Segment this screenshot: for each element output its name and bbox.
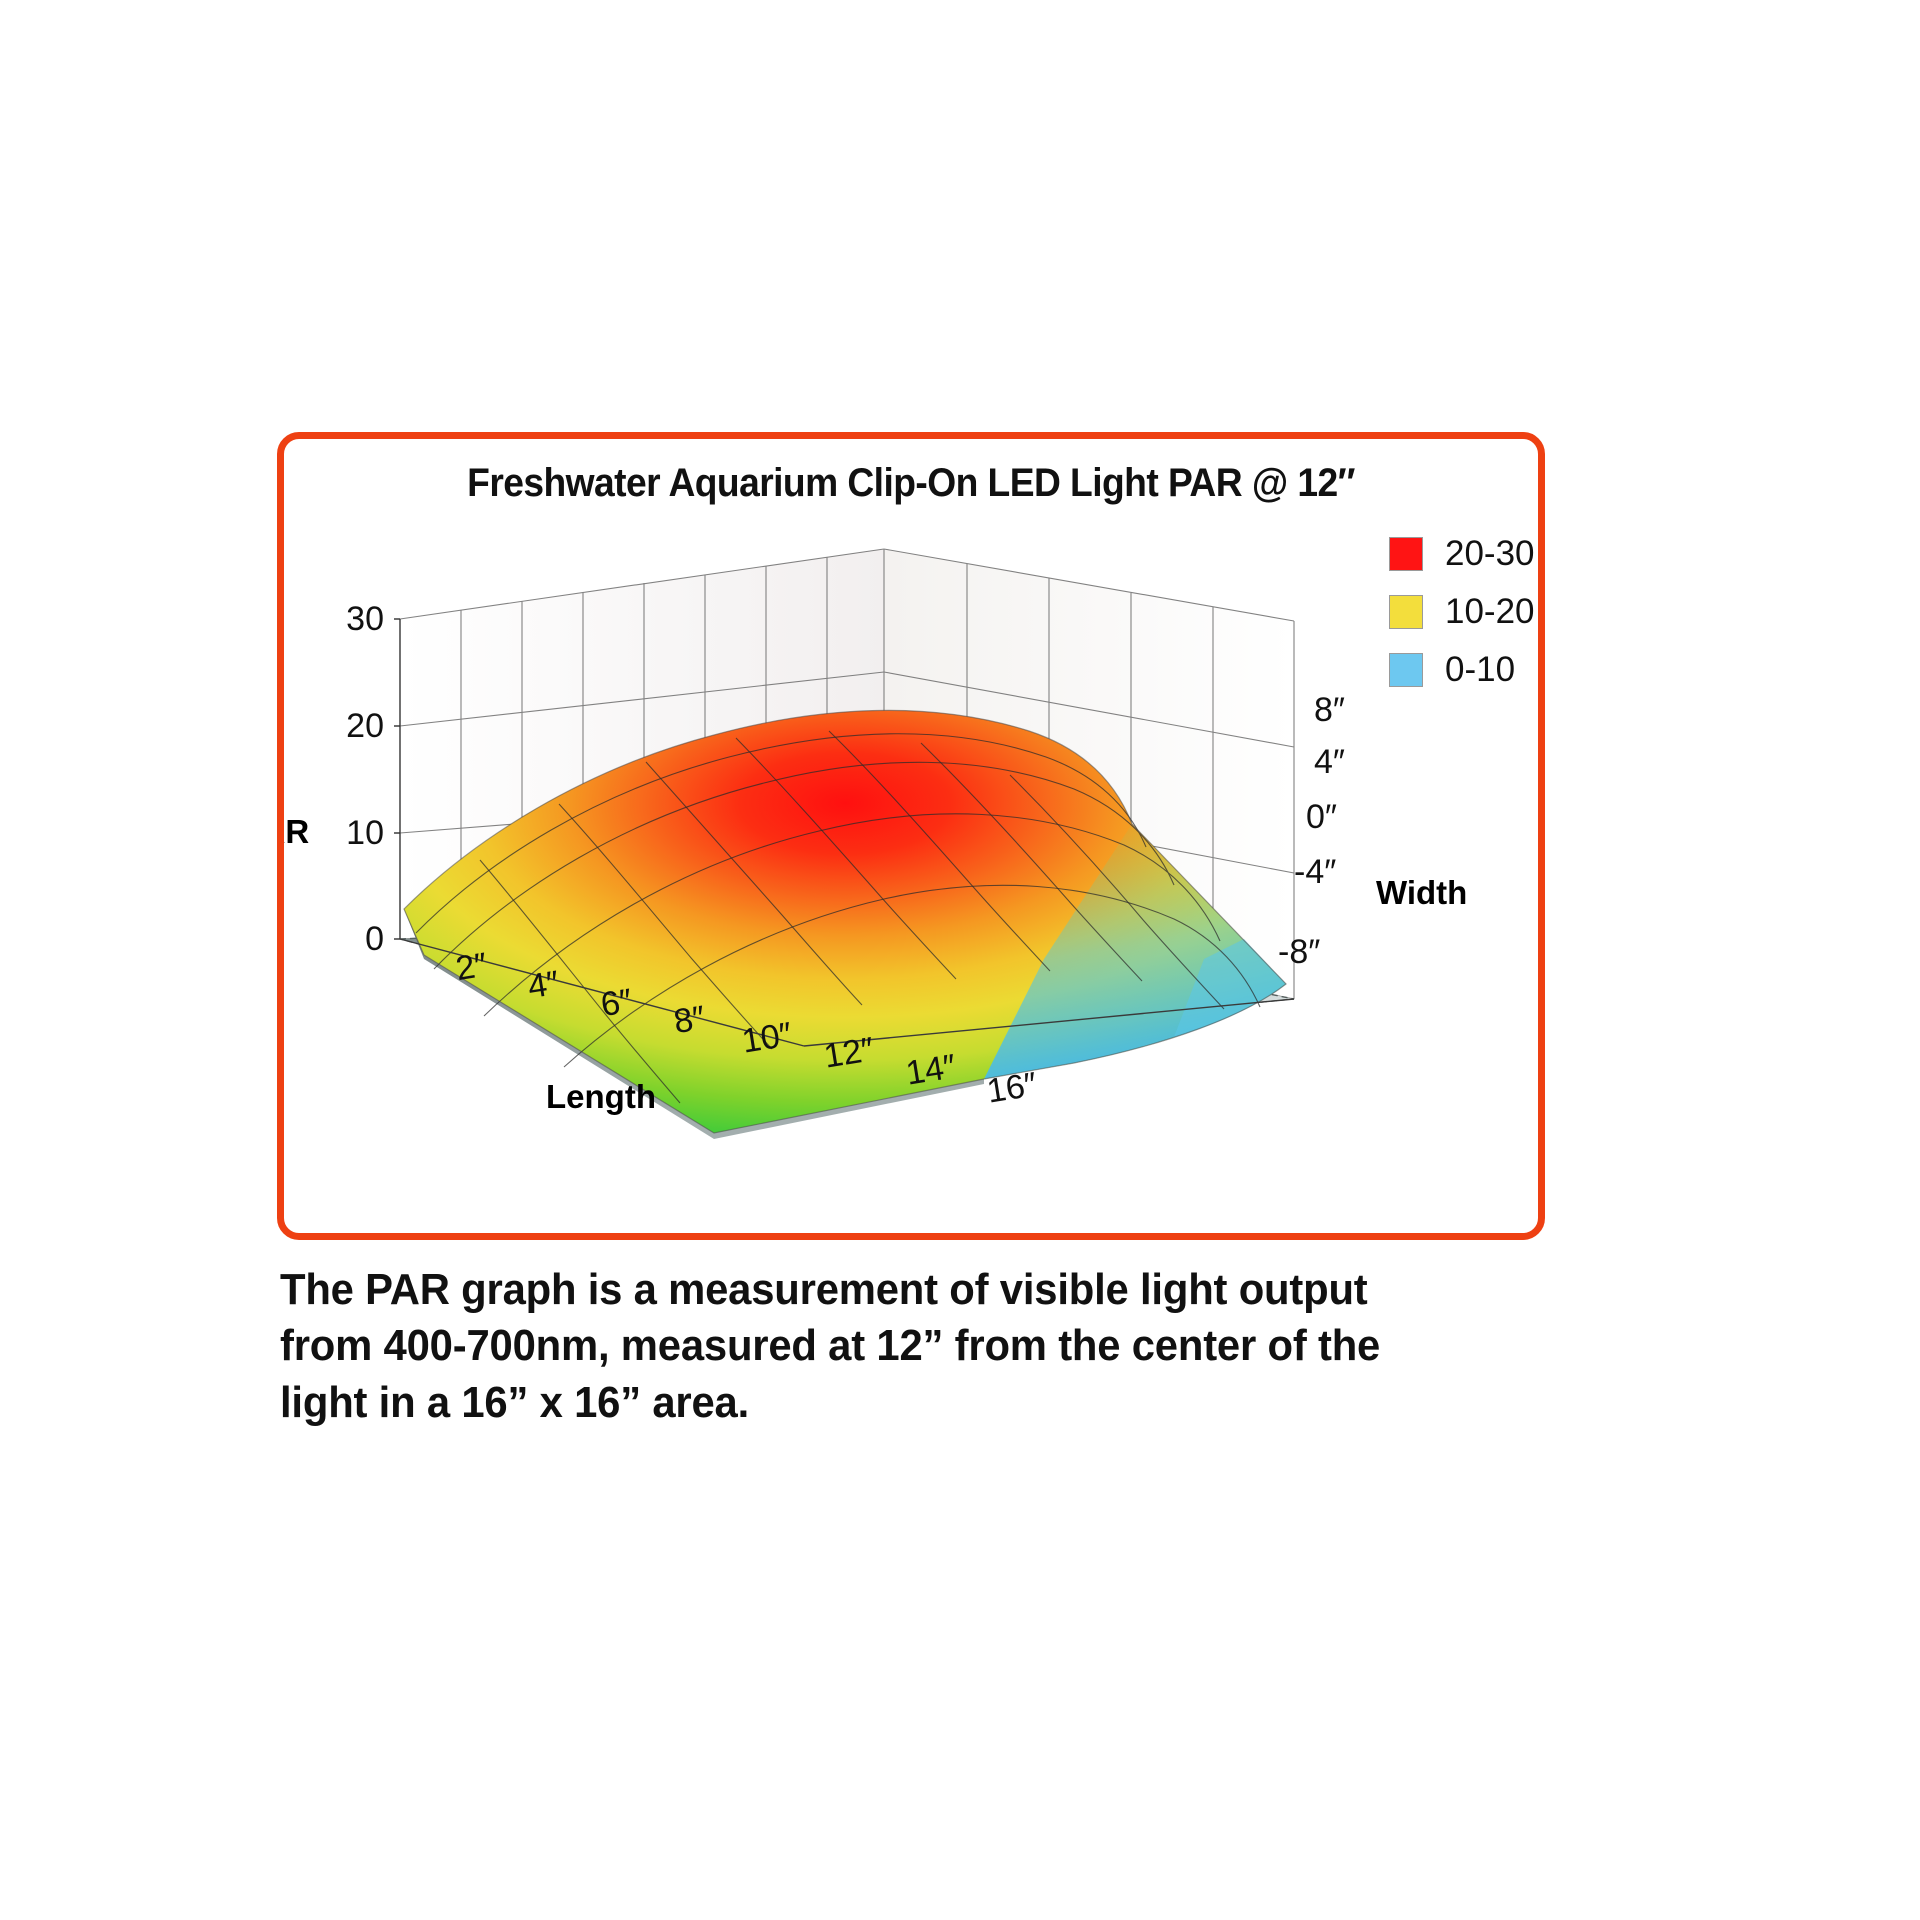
surface-plot-svg bbox=[284, 439, 1552, 1247]
chart-caption: The PAR graph is a measurement of visibl… bbox=[280, 1262, 1487, 1431]
legend-label-10-20: 10-20 bbox=[1445, 592, 1535, 632]
x-tick-2: 2″ bbox=[453, 946, 490, 989]
legend-swatch-red bbox=[1389, 537, 1423, 571]
surface-plot-area: 30 20 10 0 PAR 2″ 4″ 6″ 8″ 10″ 12″ 14″ 1… bbox=[284, 439, 1552, 1247]
y-tick-0: 0″ bbox=[1306, 798, 1337, 837]
legend-swatch-blue bbox=[1389, 653, 1423, 687]
x-tick-10: 10″ bbox=[739, 1015, 794, 1061]
y-tick--8: -8″ bbox=[1278, 933, 1320, 972]
legend-item-10-20: 10-20 bbox=[1389, 583, 1535, 641]
legend-label-20-30: 20-30 bbox=[1445, 534, 1535, 574]
chart-legend: 20-30 10-20 0-10 bbox=[1389, 525, 1535, 699]
x-tick-6: 6″ bbox=[598, 982, 635, 1025]
y-tick-8: 8″ bbox=[1314, 691, 1345, 730]
y-tick-4: 4″ bbox=[1314, 743, 1345, 782]
x-tick-4: 4″ bbox=[525, 964, 562, 1007]
par-chart-card: Freshwater Aquarium Clip-On LED Light PA… bbox=[277, 432, 1545, 1240]
legend-item-20-30: 20-30 bbox=[1389, 525, 1535, 583]
axis-ticks bbox=[394, 619, 400, 939]
y-tick--4: -4″ bbox=[1294, 853, 1336, 892]
x-tick-12: 12″ bbox=[821, 1030, 876, 1076]
z-tick-0: 0 bbox=[336, 920, 384, 959]
x-tick-16: 16″ bbox=[984, 1065, 1039, 1111]
x-tick-8: 8″ bbox=[671, 999, 708, 1042]
axis-label-width: Width bbox=[1376, 874, 1467, 912]
page-root: Freshwater Aquarium Clip-On LED Light PA… bbox=[0, 0, 1920, 1920]
caption-line-3: light in a 16” x 16” area. bbox=[280, 1375, 1487, 1431]
caption-line-2: from 400-700nm, measured at 12” from the… bbox=[280, 1318, 1487, 1374]
legend-swatch-yellow bbox=[1389, 595, 1423, 629]
axis-label-par: PAR bbox=[284, 813, 309, 851]
caption-line-1: The PAR graph is a measurement of visibl… bbox=[280, 1262, 1487, 1318]
legend-item-0-10: 0-10 bbox=[1389, 641, 1535, 699]
z-tick-10: 10 bbox=[336, 814, 384, 853]
axis-label-length: Length bbox=[546, 1078, 656, 1116]
z-tick-30: 30 bbox=[336, 600, 384, 639]
x-tick-14: 14″ bbox=[903, 1047, 958, 1093]
z-tick-20: 20 bbox=[336, 707, 384, 746]
legend-label-0-10: 0-10 bbox=[1445, 650, 1515, 690]
